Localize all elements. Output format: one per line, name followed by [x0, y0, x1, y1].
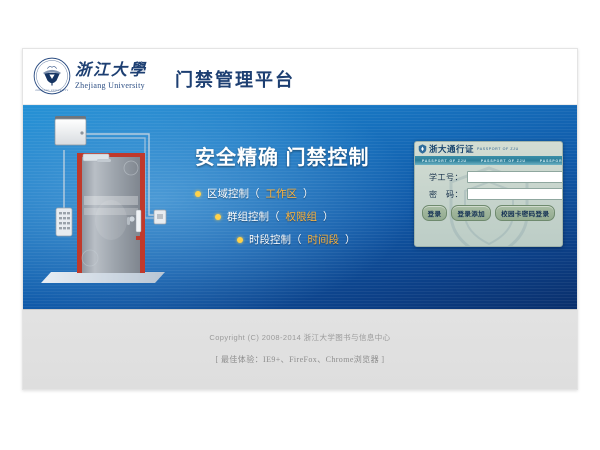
form-row-username: 学工号： [423, 171, 554, 183]
feature-label: 区域控制（ [207, 186, 260, 201]
form-row-password: 密 码： [423, 188, 554, 200]
password-input[interactable] [467, 188, 563, 200]
logo-wordmark: 浙江大學 Zhejiang University [75, 63, 147, 90]
feature-accent: 时间段 [308, 232, 340, 247]
feature-item-time-control: 时段控制（时间段） [195, 232, 413, 247]
copyright-text: Copyright (C) 2008-2014 浙江大学图书与信息中心 [23, 332, 577, 343]
username-label: 学工号： [423, 172, 467, 183]
campus-card-login-button[interactable]: 校园卡密码登录 [495, 205, 555, 221]
feature-tail: ） [323, 209, 334, 224]
browser-compatibility-text: [ 最佳体验：IE9+、FireFox、Chrome浏览器 ] [23, 354, 577, 365]
passport-strip: PASSPORT OF ZJU PASSPORT OF ZJU PASSPORT… [415, 156, 562, 165]
banner-headline: 安全精确 门禁控制 [195, 141, 413, 170]
login-button-group: 登录 登录添加 校园卡密码登录 [423, 205, 554, 221]
passport-shield-icon [418, 144, 427, 154]
page-title: 门禁管理平台 [175, 66, 295, 92]
username-input[interactable] [467, 171, 563, 183]
login-title-en: PASSPORT OF ZJU [477, 147, 519, 151]
strip-text: PASSPORT OF ZJU [474, 159, 533, 163]
feature-label: 群组控制（ [227, 209, 280, 224]
page-container: ZHEJIANG UNIVERSITY 浙江大學 Zhejiang Univer… [22, 48, 578, 390]
zhejiang-university-seal-icon: ZHEJIANG UNIVERSITY [33, 57, 71, 95]
password-label: 密 码： [423, 189, 467, 200]
bullet-icon [215, 214, 221, 220]
hero-banner: 安全精确 门禁控制 区域控制（工作区） 群组控制（权限组） 时段控制（时间段） [23, 105, 577, 309]
university-logo[interactable]: ZHEJIANG UNIVERSITY 浙江大學 Zhejiang Univer… [33, 57, 147, 95]
logo-name-cn: 浙江大學 [75, 63, 147, 79]
feature-tail: ） [345, 232, 356, 247]
login-titlebar: 浙大通行证 PASSPORT OF ZJU [415, 142, 562, 156]
site-header: ZHEJIANG UNIVERSITY 浙江大學 Zhejiang Univer… [23, 49, 577, 105]
site-footer: Copyright (C) 2008-2014 浙江大学图书与信息中心 [ 最佳… [23, 309, 577, 390]
login-button[interactable]: 登录 [422, 205, 448, 221]
strip-text: PASSPORT OF ZJU [533, 159, 562, 163]
banner-copy: 安全精确 门禁控制 区域控制（工作区） 群组控制（权限组） 时段控制（时间段） [195, 141, 413, 255]
login-panel: 浙大通行证 PASSPORT OF ZJU PASSPORT OF ZJU PA… [414, 141, 563, 247]
access-control-door-illustration [37, 110, 187, 300]
login-form: 学工号： 密 码： 登录 登录添加 校园卡密码登录 [415, 165, 562, 221]
bullet-icon [237, 237, 243, 243]
strip-text: PASSPORT OF ZJU [415, 159, 474, 163]
login-title-cn: 浙大通行证 [429, 143, 474, 155]
feature-item-area-control: 区域控制（工作区） [195, 186, 413, 201]
feature-accent: 工作区 [266, 186, 298, 201]
feature-list: 区域控制（工作区） 群组控制（权限组） 时段控制（时间段） [195, 186, 413, 247]
login-add-button[interactable]: 登录添加 [451, 205, 491, 221]
svg-text:ZHEJIANG UNIVERSITY: ZHEJIANG UNIVERSITY [35, 89, 68, 92]
bullet-icon [195, 191, 201, 197]
feature-accent: 权限组 [286, 209, 318, 224]
feature-label: 时段控制（ [249, 232, 302, 247]
logo-name-en: Zhejiang University [75, 82, 147, 90]
feature-tail: ） [303, 186, 314, 201]
feature-item-group-control: 群组控制（权限组） [195, 209, 413, 224]
